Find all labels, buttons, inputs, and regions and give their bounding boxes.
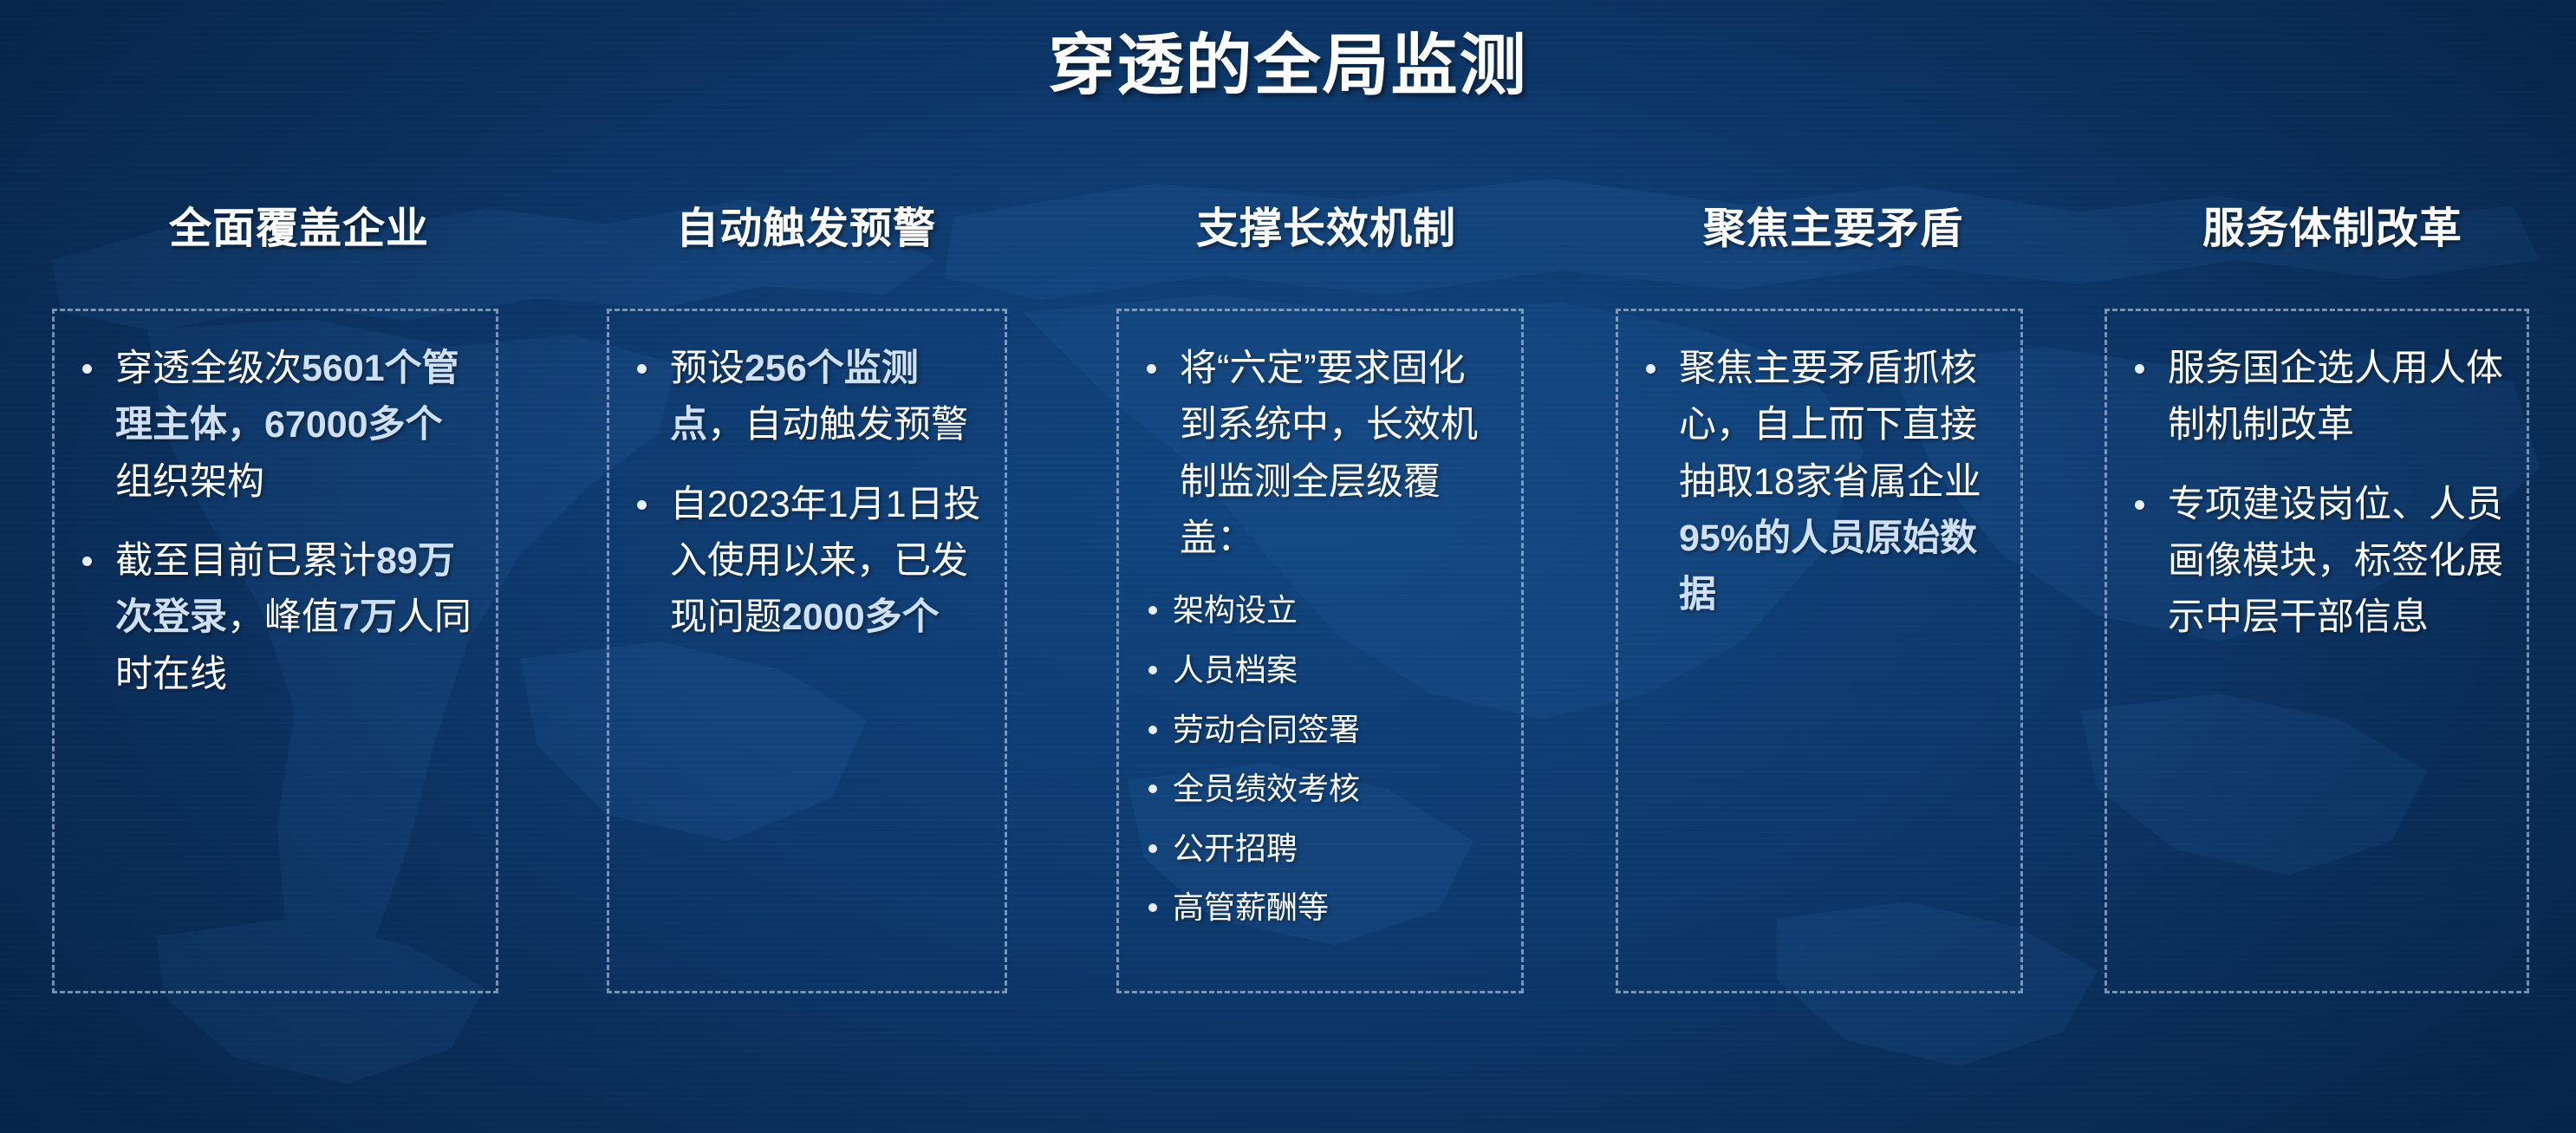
sub-bullet-item: 架构设立 — [1135, 589, 1502, 632]
column-header-4: 聚焦主要矛盾 — [1586, 187, 2080, 291]
sub-bullet-item: 全员绩效考核 — [1135, 768, 1502, 811]
bullet-text: 截至目前已累计 — [115, 540, 376, 582]
bullet-item: 专项建设岗位、人员画像模块，标签化展示中层干部信息 — [2123, 477, 2508, 647]
column-header-3: 支撑长效机制 — [1066, 187, 1586, 291]
bullet-item: 穿透全级次5601个管理主体，67000多个组织架构 — [70, 341, 477, 511]
bullet-item: 预设256个监测点，自动触发预警 — [625, 341, 986, 454]
column-box-1: 穿透全级次5601个管理主体，67000多个组织架构截至目前已累计89万次登录，… — [52, 309, 498, 993]
sub-bullet-item: 公开招聘 — [1135, 828, 1502, 870]
page-title: 穿透的全局监测 — [0, 12, 2576, 108]
column-box-4: 聚焦主要矛盾抓核心，自上而下直接抽取18家省属企业95%的人员原始数据 — [1616, 309, 2023, 993]
column-header-2: 自动触发预警 — [559, 187, 1053, 291]
bullet-list-5: 服务国企选人用人体制机制改革专项建设岗位、人员画像模块，标签化展示中层干部信息 — [2123, 341, 2508, 647]
column-4: 聚焦主要矛盾聚焦主要矛盾抓核心，自上而下直接抽取18家省属企业95%的人员原始数… — [1586, 187, 2080, 291]
bullet-list-2: 预设256个监测点，自动触发预警自2023年1月1日投入使用以来，已发现问题20… — [625, 341, 986, 647]
bullet-item: 聚焦主要矛盾抓核心，自上而下直接抽取18家省属企业95%的人员原始数据 — [1634, 341, 2001, 624]
sub-bullet-item: 劳动合同签署 — [1135, 709, 1502, 752]
column-box-2: 预设256个监测点，自动触发预警自2023年1月1日投入使用以来，已发现问题20… — [607, 309, 1007, 993]
column-3: 支撑长效机制将“六定”要求固化到系统中，长效机制监测全层级覆盖：架构设立人员档案… — [1066, 187, 1586, 291]
bullet-text: 将“六定”要求固化到系统中，长效机制监测全层级覆盖： — [1180, 348, 1478, 559]
bullet-item: 服务国企选人用人体制机制改革 — [2123, 341, 2508, 454]
column-5: 服务体制改革服务国企选人用人体制机制改革专项建设岗位、人员画像模块，标签化展示中… — [2089, 187, 2576, 291]
bullet-text: 组织架构 — [115, 461, 264, 503]
bullet-text: ，峰值 — [227, 596, 339, 638]
bullet-item: 截至目前已累计89万次登录，峰值7万人同时在线 — [70, 533, 477, 703]
bullet-text: 预设 — [670, 348, 745, 389]
bullet-list-4: 聚焦主要矛盾抓核心，自上而下直接抽取18家省属企业95%的人员原始数据 — [1634, 341, 2001, 624]
bullet-text: 穿透全级次 — [115, 348, 302, 389]
sub-bullet-item: 高管薪酬等 — [1135, 887, 1502, 929]
bullet-item: 自2023年1月1日投入使用以来，已发现问题2000多个 — [625, 477, 986, 647]
bullet-list-1: 穿透全级次5601个管理主体，67000多个组织架构截至目前已累计89万次登录，… — [70, 341, 477, 703]
column-header-1: 全面覆盖企业 — [52, 187, 546, 291]
bullet-text: ，自动触发预警 — [707, 404, 968, 446]
bullet-item: 将“六定”要求固化到系统中，长效机制监测全层级覆盖： — [1135, 341, 1502, 567]
bullet-text: 服务国企选人用人体制机制改革 — [2168, 348, 2503, 446]
sub-bullet-item: 人员档案 — [1135, 649, 1502, 692]
bullet-text: 聚焦主要矛盾抓核心，自上而下直接抽取18家省属企业 — [1679, 348, 1981, 503]
column-header-5: 服务体制改革 — [2089, 187, 2576, 291]
columns-container: 全面覆盖企业穿透全级次5601个管理主体，67000多个组织架构截至目前已累计8… — [0, 187, 2576, 1019]
column-1: 全面覆盖企业穿透全级次5601个管理主体，67000多个组织架构截至目前已累计8… — [52, 187, 546, 291]
column-box-5: 服务国企选人用人体制机制改革专项建设岗位、人员画像模块，标签化展示中层干部信息 — [2104, 309, 2529, 993]
slide-root: 穿透的全局监测 全面覆盖企业穿透全级次5601个管理主体，67000多个组织架构… — [0, 0, 2576, 1133]
column-2: 自动触发预警预设256个监测点，自动触发预警自2023年1月1日投入使用以来，已… — [559, 187, 1053, 291]
bullet-list-3: 将“六定”要求固化到系统中，长效机制监测全层级覆盖： — [1135, 341, 1502, 567]
bullet-highlight-text: 95%的人员原始数据 — [1679, 518, 1977, 615]
sub-bullet-list-3: 架构设立人员档案劳动合同签署全员绩效考核公开招聘高管薪酬等 — [1135, 589, 1502, 929]
bullet-highlight-text: 2000多个 — [782, 596, 940, 638]
bullet-text: 专项建设岗位、人员画像模块，标签化展示中层干部信息 — [2168, 484, 2503, 639]
column-box-3: 将“六定”要求固化到系统中，长效机制监测全层级覆盖：架构设立人员档案劳动合同签署… — [1116, 309, 1524, 993]
bullet-highlight-text: 7万 — [339, 596, 397, 638]
